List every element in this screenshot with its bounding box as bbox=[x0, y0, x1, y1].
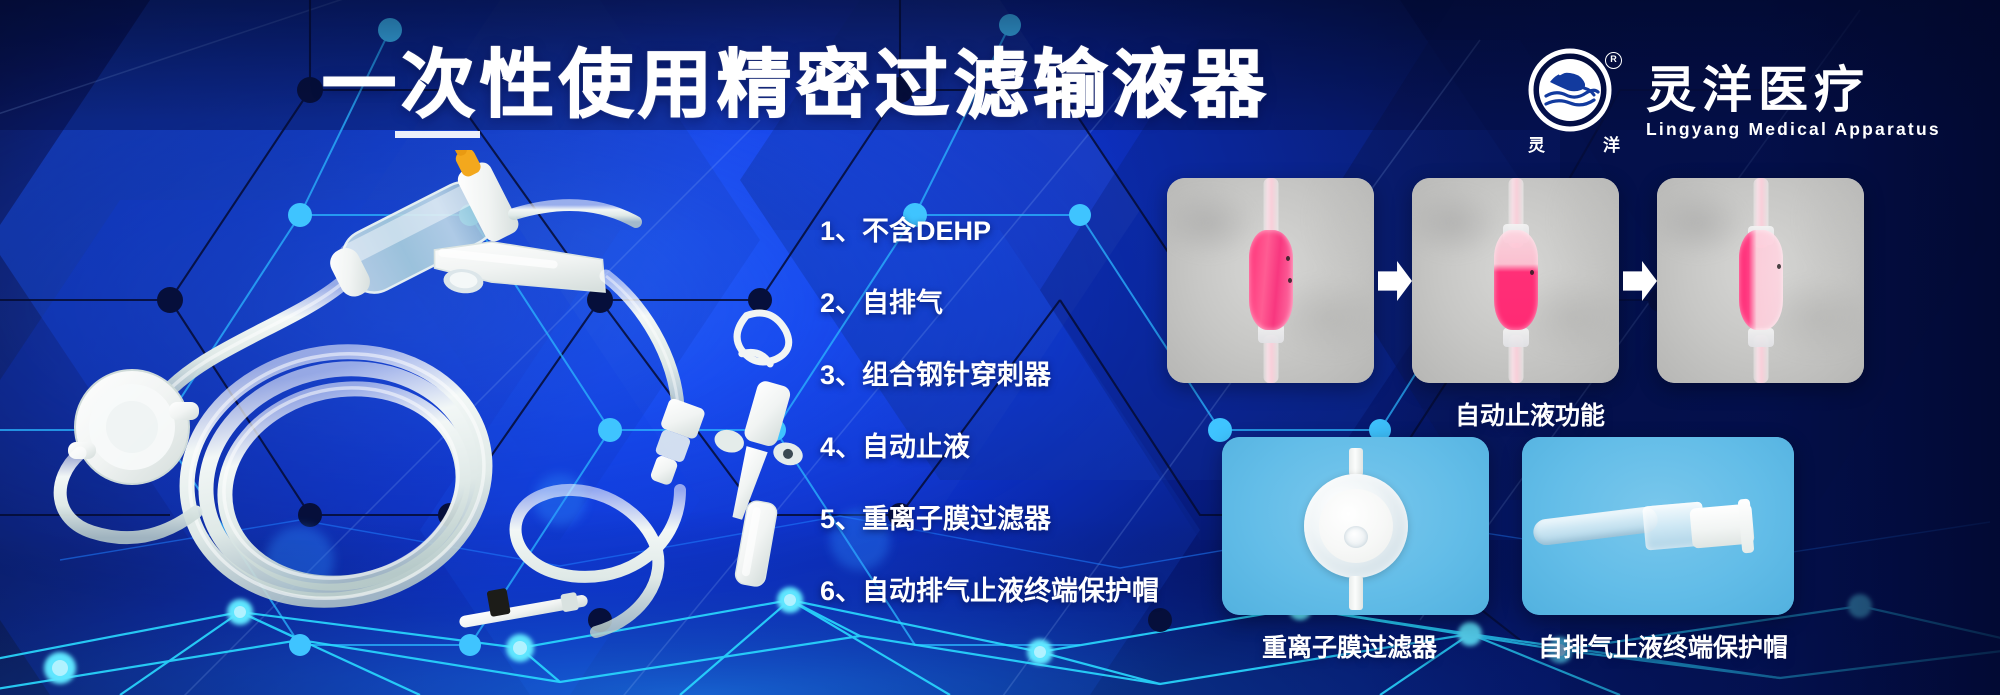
company-logo: R 灵 洋 灵洋医疗 Lingyang Medical Apparatus bbox=[1528, 48, 1941, 156]
feature-item-3: 3、组合钢针穿刺器 bbox=[820, 362, 1159, 389]
bottom-photo-cap bbox=[1522, 437, 1794, 615]
logo-name-en: Lingyang Medical Apparatus bbox=[1646, 119, 1941, 140]
logo-char-right: 洋 bbox=[1603, 131, 1620, 156]
bottom-photo-filter bbox=[1222, 437, 1489, 615]
filter-outlet-nozzle bbox=[1349, 576, 1363, 610]
inline-connector-part bbox=[642, 397, 706, 489]
sequence-caption: 自动止液功能 bbox=[1455, 396, 1605, 432]
sequence-photo-2 bbox=[1412, 178, 1619, 383]
product-photo bbox=[40, 150, 820, 670]
tube-collar-bottom bbox=[1748, 328, 1774, 347]
logo-char-left: 灵 bbox=[1528, 131, 1545, 156]
logo-wordmark: 灵洋医疗 Lingyang Medical Apparatus bbox=[1646, 64, 1941, 140]
roller-clamp-part bbox=[430, 236, 609, 308]
filter-outlet-hub bbox=[1344, 526, 1368, 548]
sequence-photo-1 bbox=[1167, 178, 1374, 383]
feature-item-6: 6、自动排气止液终端保护帽 bbox=[820, 578, 1159, 605]
feature-item-1: 1、不含DEHP bbox=[820, 218, 1159, 245]
sequence-photo-3 bbox=[1657, 178, 1864, 383]
logo-name-cn: 灵洋医疗 bbox=[1646, 64, 1941, 116]
tube-clamp-part bbox=[455, 574, 589, 630]
bottom-caption-1: 重离子膜过滤器 bbox=[1262, 628, 1437, 664]
banner-title: 一次性使用精密过滤输液器 bbox=[322, 48, 1270, 122]
product-banner: 一次性使用精密过滤输液器 R 灵 洋 灵洋医疗 Lingyang Medical… bbox=[0, 0, 2000, 695]
filter-chamber-half bbox=[1494, 230, 1538, 330]
filter-chamber-full bbox=[1249, 230, 1293, 330]
feature-item-2: 2、自排气 bbox=[820, 290, 1159, 317]
infusion-set-illustration bbox=[40, 150, 820, 670]
feature-list: 1、不含DEHP 2、自排气 3、组合钢针穿刺器 4、自动止液 5、重离子膜过滤… bbox=[820, 218, 1159, 605]
logo-emblem-icon: R 灵 洋 bbox=[1528, 48, 1620, 156]
filter-chamber-empty bbox=[1739, 230, 1783, 330]
bottom-caption-2: 自排气止液终端保护帽 bbox=[1538, 628, 1788, 664]
feature-item-4: 4、自动止液 bbox=[820, 434, 1159, 461]
feature-item-5: 5、重离子膜过滤器 bbox=[820, 506, 1159, 533]
wing-clip-part bbox=[731, 308, 795, 369]
registered-trademark-icon: R bbox=[1605, 52, 1622, 69]
tube-collar-bottom bbox=[1503, 328, 1529, 347]
filter-inlet-nozzle bbox=[1349, 448, 1363, 476]
logo-sub-characters: 灵 洋 bbox=[1528, 131, 1620, 156]
